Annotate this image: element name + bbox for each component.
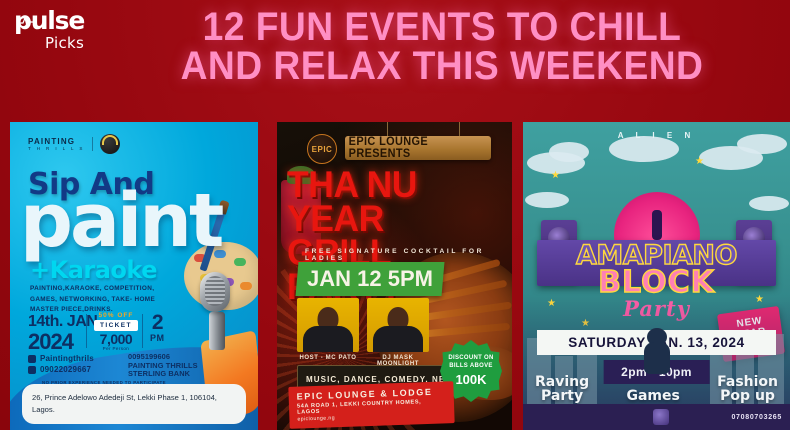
event-time-number: 2 xyxy=(150,312,165,333)
feature-3-line-2: Pop up xyxy=(717,389,778,404)
poster-1-contacts: Paintingthrils 09022029667 xyxy=(28,354,94,376)
contact-handle: Paintingthrils xyxy=(40,354,94,363)
cloud-decoration xyxy=(749,196,789,211)
lineup-item: DJ MASK MOONLIGHT xyxy=(367,298,429,367)
discount-line-2: BILLS ABOVE xyxy=(449,363,492,371)
contact-row: 09022029667 xyxy=(28,365,94,374)
presents-label: EPIC LOUNGE PRESENTS xyxy=(349,136,488,160)
event-time: 2 PM xyxy=(150,312,165,343)
mic-badge-icon xyxy=(100,134,120,154)
feature-games: Games xyxy=(626,389,679,404)
poster-1-title-main: paint xyxy=(20,184,221,258)
epic-badge-label: EPIC xyxy=(312,145,333,154)
dj-photo xyxy=(367,298,429,352)
ticket-label: TICKET xyxy=(94,320,138,331)
ticket-info: 50% OFF TICKET 7,000 Per Person xyxy=(94,312,138,351)
feature-1-line-2: Party xyxy=(535,389,589,404)
feature-raving-party: Raving Party xyxy=(535,375,589,404)
poster-gallery: PAINTING T H R I L L S Sip And paint +Ka… xyxy=(0,122,790,430)
page-title: 12 FUN EVENTS TO CHILL AND RELAX THIS WE… xyxy=(0,8,790,86)
lineup-item: HOST - MC PATO xyxy=(297,298,359,367)
logo-divider xyxy=(92,137,93,151)
poster-amapiano-block-party[interactable]: ★ ★ ★ ★ ★ ★ A L I E N AMAPIANO BLOCK Par… xyxy=(523,122,790,430)
microphone-graphic xyxy=(200,272,234,352)
discount-line-1: DISCOUNT ON xyxy=(448,355,493,363)
contact-phone: 09022029667 xyxy=(40,365,91,374)
poster-grill-party[interactable]: EPIC EPIC LOUNGE PRESENTS THA NU YEAR GR… xyxy=(277,122,512,430)
poster-3-footer: 07080703265 xyxy=(523,404,790,430)
headline-line-1: 12 FUN EVENTS TO CHILL xyxy=(143,8,742,47)
poster-2-date: JAN 12 5PM xyxy=(307,266,433,292)
poster-2-subtitle: FREE SIGNATURE COCKTAIL FOR LADIES xyxy=(305,248,512,262)
poster-3-features: Raving Party Games Fashion Pop up xyxy=(529,375,784,404)
whatsapp-icon xyxy=(28,366,36,374)
page-background: pulse Picks 12 FUN EVENTS TO CHILL AND R… xyxy=(0,0,790,430)
discount-amount: 100K xyxy=(455,372,486,387)
divider-1 xyxy=(86,314,87,348)
feature-fashion-pop-up: Fashion Pop up xyxy=(717,375,778,404)
poster-3-phone: 07080703265 xyxy=(731,414,782,421)
poster-3-top-label: A L I E N xyxy=(523,131,790,140)
poster-sip-and-paint[interactable]: PAINTING T H R I L L S Sip And paint +Ka… xyxy=(10,122,258,430)
poster-1-title-extra: +Karaoke xyxy=(30,256,157,284)
poster-3-title-line-2: BLOCK xyxy=(523,268,790,298)
divider-2 xyxy=(142,314,143,348)
event-time-unit: PM xyxy=(150,333,165,343)
organizer-sub: T H R I L L S xyxy=(28,146,85,151)
host-photo xyxy=(297,298,359,352)
organizer-logo-icon xyxy=(653,409,669,425)
cloud-decoration xyxy=(549,142,589,162)
bank-details: 0095199606 PAINTING THRILLS STERLING BAN… xyxy=(128,353,198,379)
painting-thrills-logo: PAINTING T H R I L L S xyxy=(28,134,120,154)
headline-line-2: AND RELAX THIS WEEKEND xyxy=(143,47,742,86)
star-icon: ★ xyxy=(695,156,704,167)
presents-banner: EPIC LOUNGE PRESENTS xyxy=(345,136,491,160)
bank-name: STERLING BANK xyxy=(128,370,198,379)
host-name: HOST - MC PATO xyxy=(297,355,359,361)
star-icon: ★ xyxy=(551,170,560,181)
instagram-icon xyxy=(28,355,36,363)
venue-address: 26, Prince Adelowo Adedeji St, Lekki Pha… xyxy=(22,384,246,424)
dancer-silhouette-icon xyxy=(652,210,662,240)
cloud-decoration xyxy=(525,192,569,208)
poster-2-venue: EPIC LOUNGE & LODGE 54A ROAD 1, LEKKI CO… xyxy=(288,381,454,429)
feature-2-line-1: Games xyxy=(626,389,679,404)
lineup: HOST - MC PATO DJ MASK MOONLIGHT xyxy=(297,298,429,367)
organizer-name: PAINTING xyxy=(28,137,85,146)
epic-logo-badge: EPIC xyxy=(307,134,337,164)
contact-row: Paintingthrils xyxy=(28,354,94,363)
discount-label: 50% OFF xyxy=(94,312,138,319)
poster-2-title-line-1: THA NU YEAR xyxy=(287,168,503,236)
poster-2-date-badge: JAN 12 5PM xyxy=(296,262,445,296)
ticket-price: 7,000 xyxy=(94,332,138,346)
